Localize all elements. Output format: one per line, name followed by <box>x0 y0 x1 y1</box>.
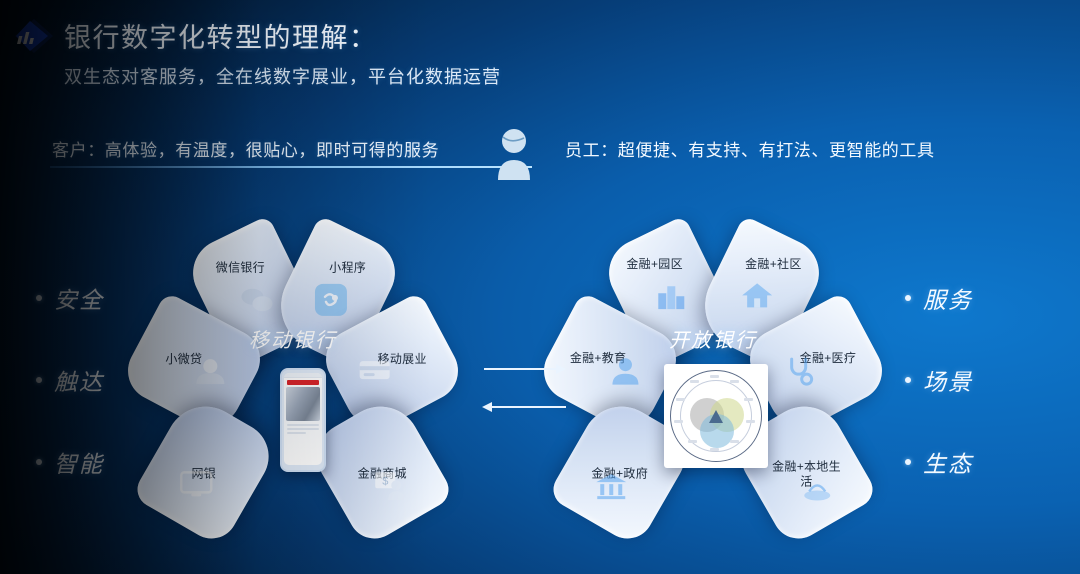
house-icon <box>741 281 773 314</box>
bullet-dot-icon <box>36 459 42 465</box>
right-bullet-2: 生态 <box>905 450 1055 474</box>
ecosystem-venn-diagram <box>664 364 768 468</box>
strip-divider <box>50 166 532 168</box>
left-bullet-label: 安全 <box>54 281 104 315</box>
petal-online-bank[interactable]: 网银 <box>131 392 281 548</box>
stethoscope-icon <box>785 356 815 391</box>
buildings-icon <box>655 283 687 314</box>
petal-finance-mall[interactable]: 金融商城 $ <box>305 392 455 548</box>
bullet-dot-icon <box>905 459 911 465</box>
right-bullet-1: 场景 <box>905 368 1055 392</box>
right-keyword-list: 服务 场景 生态 <box>905 286 1055 532</box>
person-loan-icon <box>193 358 227 389</box>
chat-bubble-icon <box>240 287 274 320</box>
right-bullet-0: 服务 <box>905 286 1055 310</box>
open-bank-flower: 金融+园区 金融+社区 金融+教育 <box>548 228 878 528</box>
monitor-icon <box>179 470 213 503</box>
left-bullet-label: 智能 <box>54 445 104 479</box>
mobile-bank-flower: 微信银行 小程序 小微贷 <box>128 228 458 528</box>
bullet-dot-icon <box>905 377 911 383</box>
bidirectional-arrows <box>468 358 578 420</box>
right-bullet-label: 生态 <box>923 445 973 479</box>
mobile-phone-app-mockup <box>280 368 326 472</box>
page-subtitle: 双生态对客服务，全在线数字展业，平台化数据运营 <box>64 63 501 89</box>
bullet-dot-icon <box>36 377 42 383</box>
right-bullet-label: 场景 <box>923 363 973 397</box>
petal-label: 小程序 <box>300 261 396 276</box>
right-center-label: 开放银行 <box>548 324 878 353</box>
page-title: 银行数字化转型的理解： <box>64 16 501 55</box>
person-avatar-icon <box>489 125 539 180</box>
petal-label: 金融+园区 <box>607 257 703 272</box>
graduate-person-icon <box>609 357 641 390</box>
left-center-label: 移动银行 <box>128 324 458 353</box>
money-shop-icon: $ <box>373 470 407 505</box>
left-bullet-label: 触达 <box>54 363 104 397</box>
petal-label: 金融+社区 <box>725 257 821 272</box>
credit-card-icon <box>358 358 394 389</box>
government-bank-icon <box>595 472 627 505</box>
employee-value-text: 员工：超便捷、有支持、有打法、更智能的工具 <box>565 136 935 161</box>
svg-text:$: $ <box>382 475 388 487</box>
bullet-dot-icon <box>36 295 42 301</box>
brand-diamond-logo <box>14 16 56 56</box>
local-life-icon <box>801 477 833 508</box>
petal-label: 微信银行 <box>192 261 288 276</box>
audience-strip: 客户：高体验，有温度，很贴心，即时可得的服务 员工：超便捷、有支持、有打法、更智… <box>0 130 1080 180</box>
bullet-dot-icon <box>905 295 911 301</box>
slide-canvas: 银行数字化转型的理解： 双生态对客服务，全在线数字展业，平台化数据运营 客户：高… <box>0 0 1080 574</box>
mini-program-icon <box>314 283 348 322</box>
customer-value-text: 客户：高体验，有温度，很贴心，即时可得的服务 <box>52 136 439 161</box>
title-block: 银行数字化转型的理解： 双生态对客服务，全在线数字展业，平台化数据运营 <box>64 16 501 89</box>
right-bullet-label: 服务 <box>923 281 973 315</box>
